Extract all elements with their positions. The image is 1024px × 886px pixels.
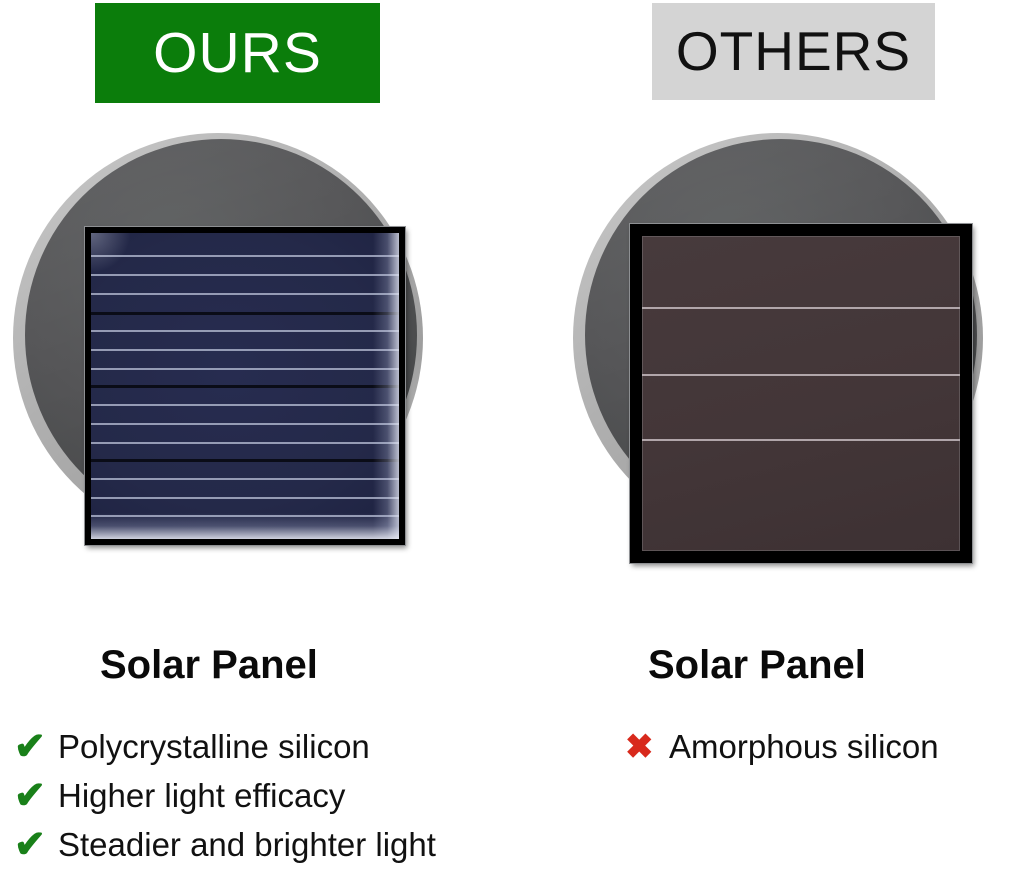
panel-title-ours: Solar Panel [100, 645, 318, 685]
cell-finger-line [91, 497, 399, 499]
cell-finger-line [91, 274, 399, 276]
list-item: ✔ Higher light efficacy [14, 771, 436, 820]
cell-finger-line [642, 307, 960, 309]
cell-finger-line [91, 442, 399, 444]
cell-finger-line [91, 404, 399, 406]
cross-icon: ✖ [625, 730, 669, 764]
feature-label: Higher light efficacy [58, 779, 345, 812]
cell-frame-others [630, 224, 972, 563]
panel-title-others: Solar Panel [648, 645, 866, 685]
cell-glow-bottom [91, 513, 399, 539]
check-icon: ✔ [14, 777, 58, 815]
polycrystalline-cell [91, 233, 399, 539]
check-icon: ✔ [14, 728, 58, 766]
cell-finger-line [91, 478, 399, 480]
feature-list-others: ✖ Amorphous silicon [625, 722, 939, 771]
check-icon: ✔ [14, 826, 58, 864]
badge-others-label: OTHERS [676, 24, 911, 79]
badge-ours-label: OURS [153, 25, 322, 82]
cell-finger-line [642, 374, 960, 376]
solar-lamp-others [573, 133, 983, 543]
cell-finger-line [642, 439, 960, 441]
cell-finger-line [91, 293, 399, 295]
cell-busbar-line [91, 459, 399, 462]
feature-label: Polycrystalline silicon [58, 730, 370, 763]
cell-glow-right [373, 233, 399, 539]
cell-finger-line [91, 368, 399, 370]
solar-lamp-ours [13, 133, 423, 543]
cell-busbar-line [91, 312, 399, 315]
cell-finger-line [91, 349, 399, 351]
badge-ours: OURS [95, 3, 380, 103]
cell-finger-line [91, 330, 399, 332]
comparison-infographic: OURS [0, 0, 1024, 886]
feature-label: Amorphous silicon [669, 730, 939, 763]
cell-finger-line [91, 515, 399, 517]
amorphous-cell [642, 236, 960, 551]
badge-others: OTHERS [652, 3, 935, 100]
list-item: ✔ Steadier and brighter light [14, 820, 436, 869]
cell-finger-line [91, 255, 399, 257]
list-item: ✔ Polycrystalline silicon [14, 722, 436, 771]
cell-finger-line [91, 423, 399, 425]
feature-label: Steadier and brighter light [58, 828, 436, 861]
list-item: ✖ Amorphous silicon [625, 722, 939, 771]
cell-busbar-line [91, 385, 399, 388]
cell-glow-topleft [91, 233, 131, 273]
feature-list-ours: ✔ Polycrystalline silicon ✔ Higher light… [14, 722, 436, 869]
cell-frame-ours [85, 227, 405, 545]
